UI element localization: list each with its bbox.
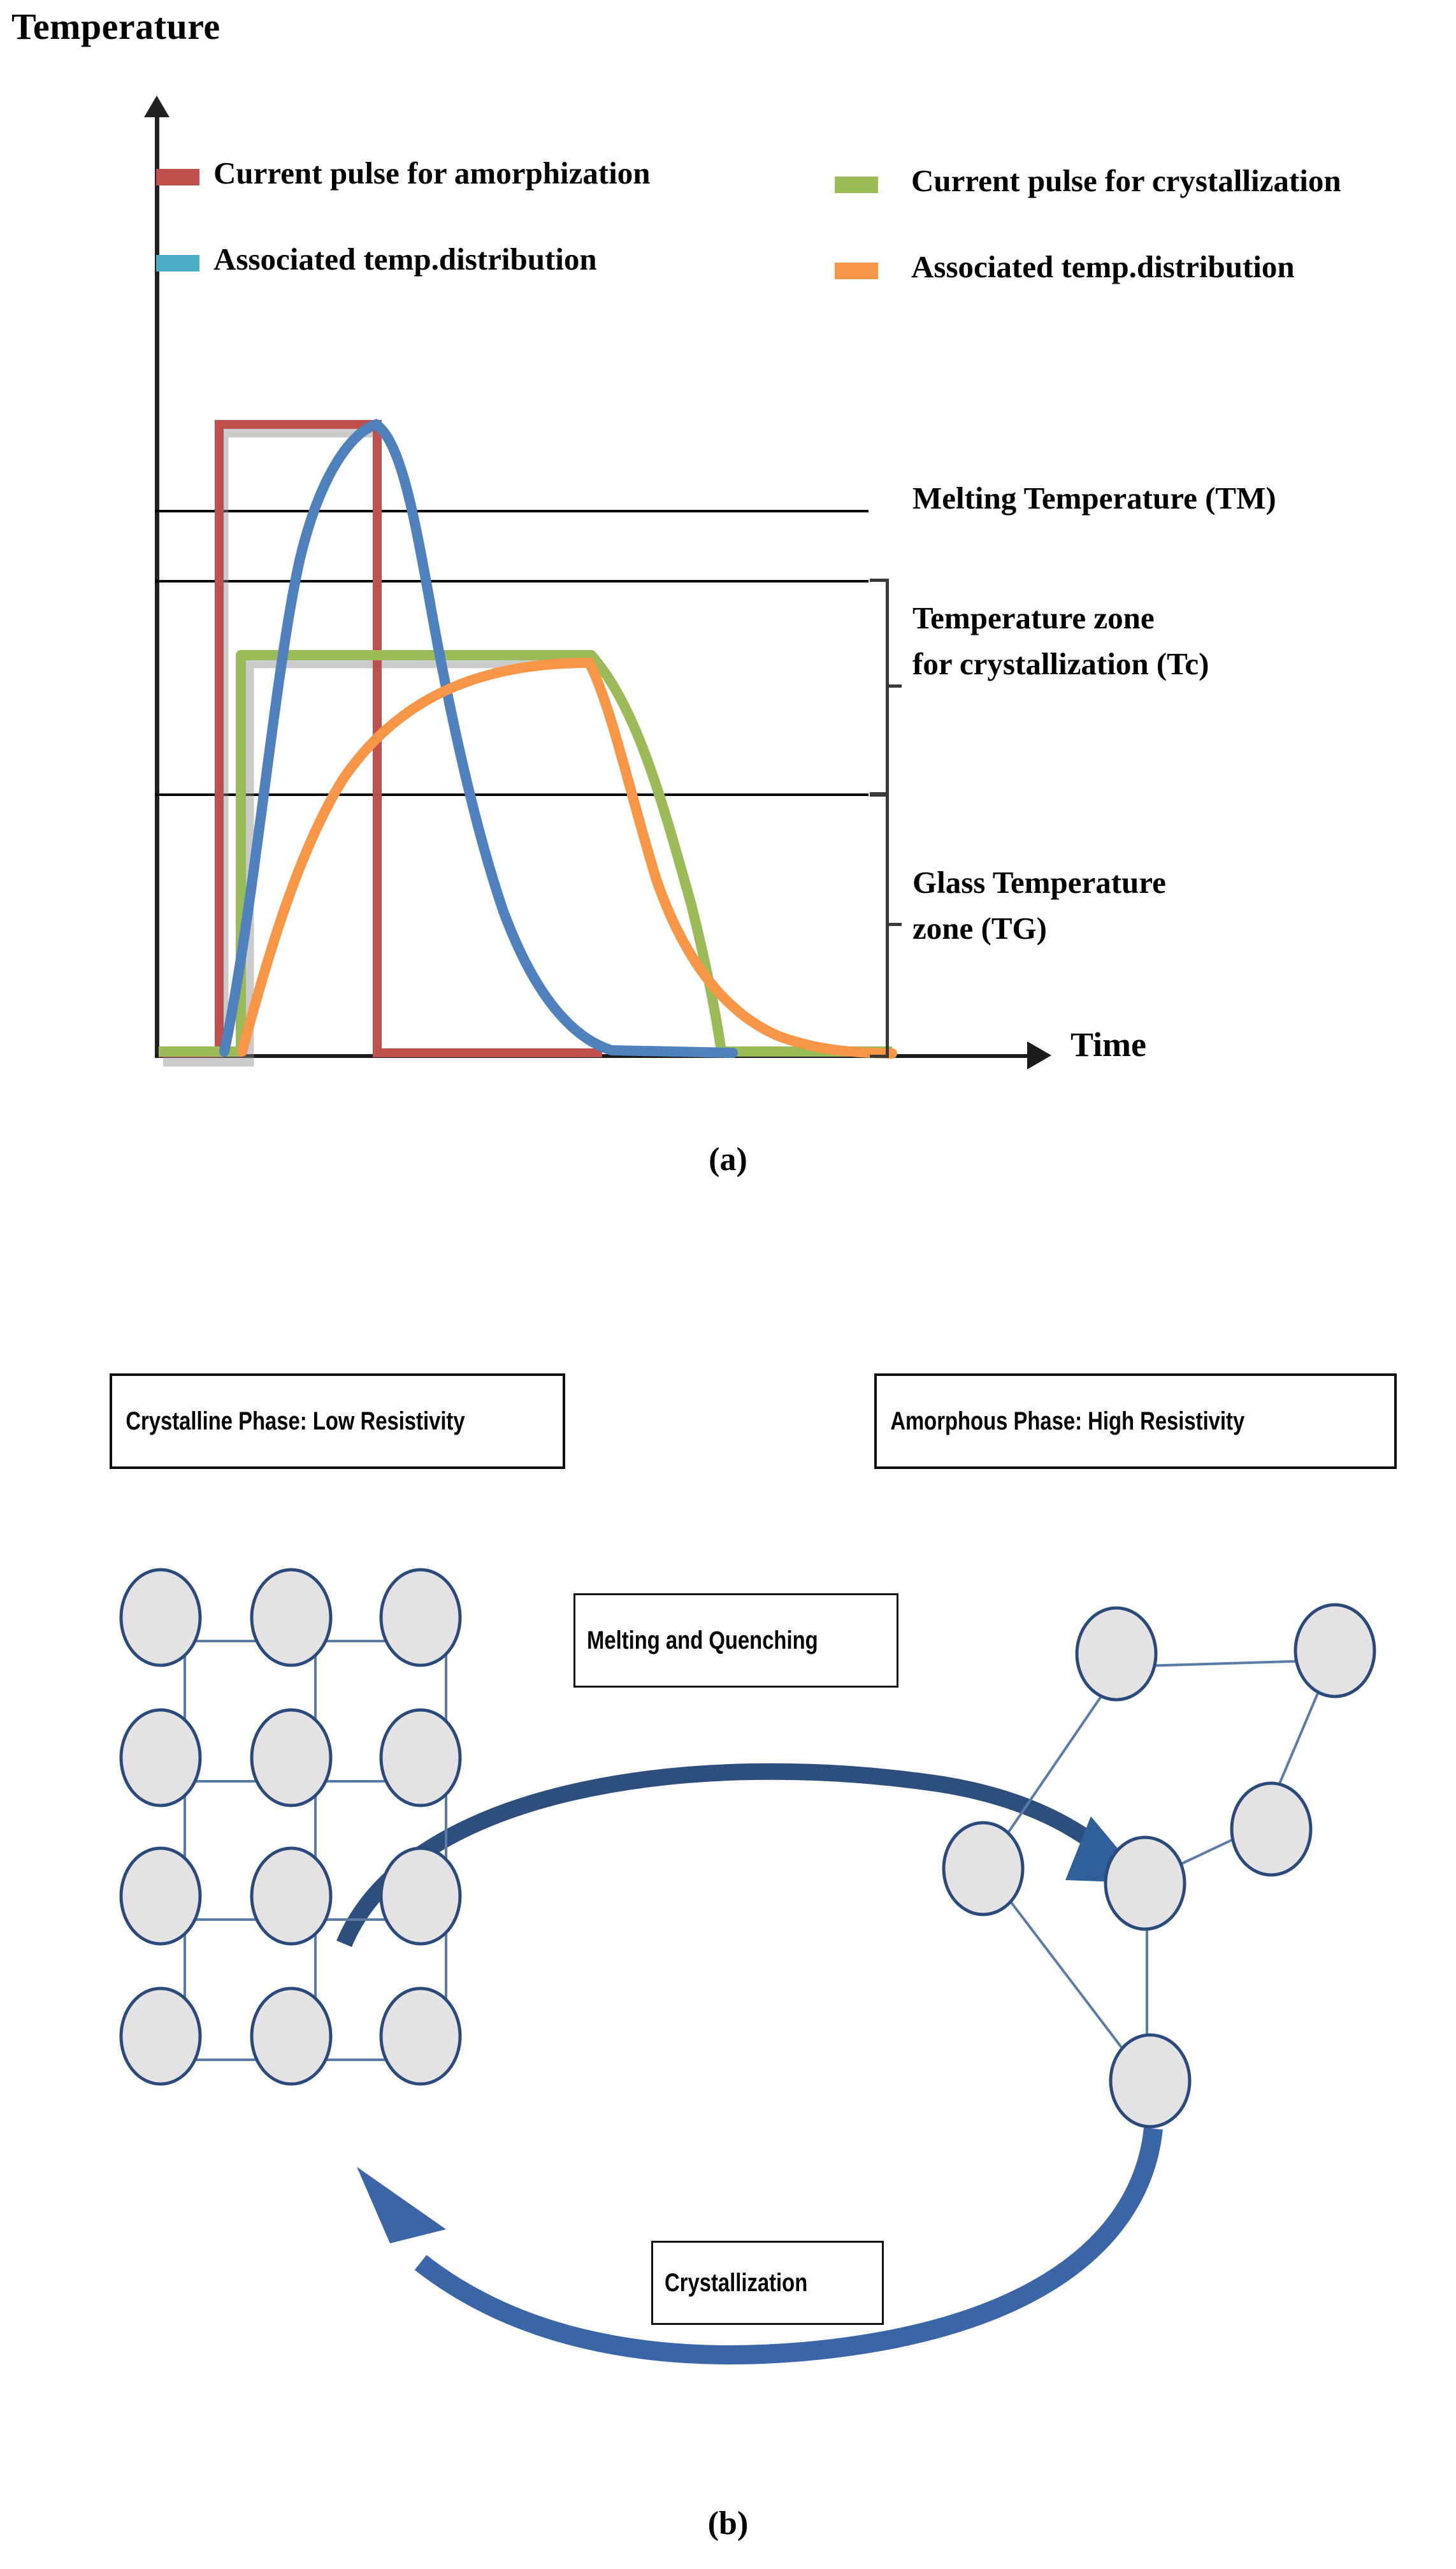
lattice-node — [121, 1988, 200, 2084]
lattice-node — [121, 1710, 200, 1806]
label-glass-temperature-zone-line2: zone (TG) — [912, 909, 1166, 948]
lattice-node — [381, 1848, 460, 1944]
lattice-node — [252, 1570, 331, 1665]
crystalline-lattice-nodes — [121, 1570, 460, 2084]
lattice-node — [381, 1710, 460, 1806]
label-crystallization-zone-line2: for crystallization (Tc) — [912, 645, 1209, 683]
amorphous-node — [1232, 1783, 1311, 1875]
label-melting-temperature: Melting Temperature (TM) — [912, 479, 1276, 517]
lattice-node — [381, 1988, 460, 2084]
panel-a-caption: (a) — [0, 1141, 1456, 1178]
panel-b-graphics — [0, 1306, 1456, 2569]
amorphous-node — [1077, 1608, 1156, 1700]
curve-crystallization-pulse — [159, 655, 892, 1052]
lattice-node — [121, 1848, 200, 1944]
amorphous-node — [944, 1823, 1023, 1914]
curved-arrow-left-icon — [357, 2129, 1153, 2355]
panel-a-temperature-time-chart: Temperature Time Current pulse for amorp… — [0, 0, 1456, 1211]
lattice-node — [381, 1570, 460, 1665]
lattice-node — [252, 1848, 331, 1944]
panel-b-phase-cycle-diagram: Crystalline Phase: Low Resistivity Amorp… — [0, 1306, 1456, 2569]
amorphous-network-nodes — [944, 1605, 1374, 2127]
label-glass-temperature-zone-line1: Glass Temperature — [912, 864, 1166, 902]
amorphous-node — [1106, 1837, 1185, 1929]
bracket-crystallization-zone — [870, 579, 889, 795]
label-crystallization-zone-line1: Temperature zone — [912, 599, 1209, 637]
curved-arrow-right-icon — [344, 1772, 1147, 1944]
amorphous-node — [1111, 2035, 1190, 2127]
lattice-node — [121, 1570, 200, 1665]
bracket-glass-temperature-zone — [870, 793, 889, 1058]
lattice-node — [252, 1710, 331, 1806]
amorphous-node — [1295, 1605, 1374, 1697]
curve-crystallization-temp-distribution — [242, 663, 892, 1053]
label-glass-temperature-zone: Glass Temperature zone (TG) — [912, 864, 1166, 940]
label-crystallization-zone: Temperature zone for crystallization (Tc… — [912, 599, 1209, 676]
panel-b-caption: (b) — [0, 2505, 1456, 2542]
lattice-node — [252, 1988, 331, 2084]
chart-curves — [0, 0, 1456, 1211]
curve-amorphization-temp-distribution — [224, 424, 733, 1053]
